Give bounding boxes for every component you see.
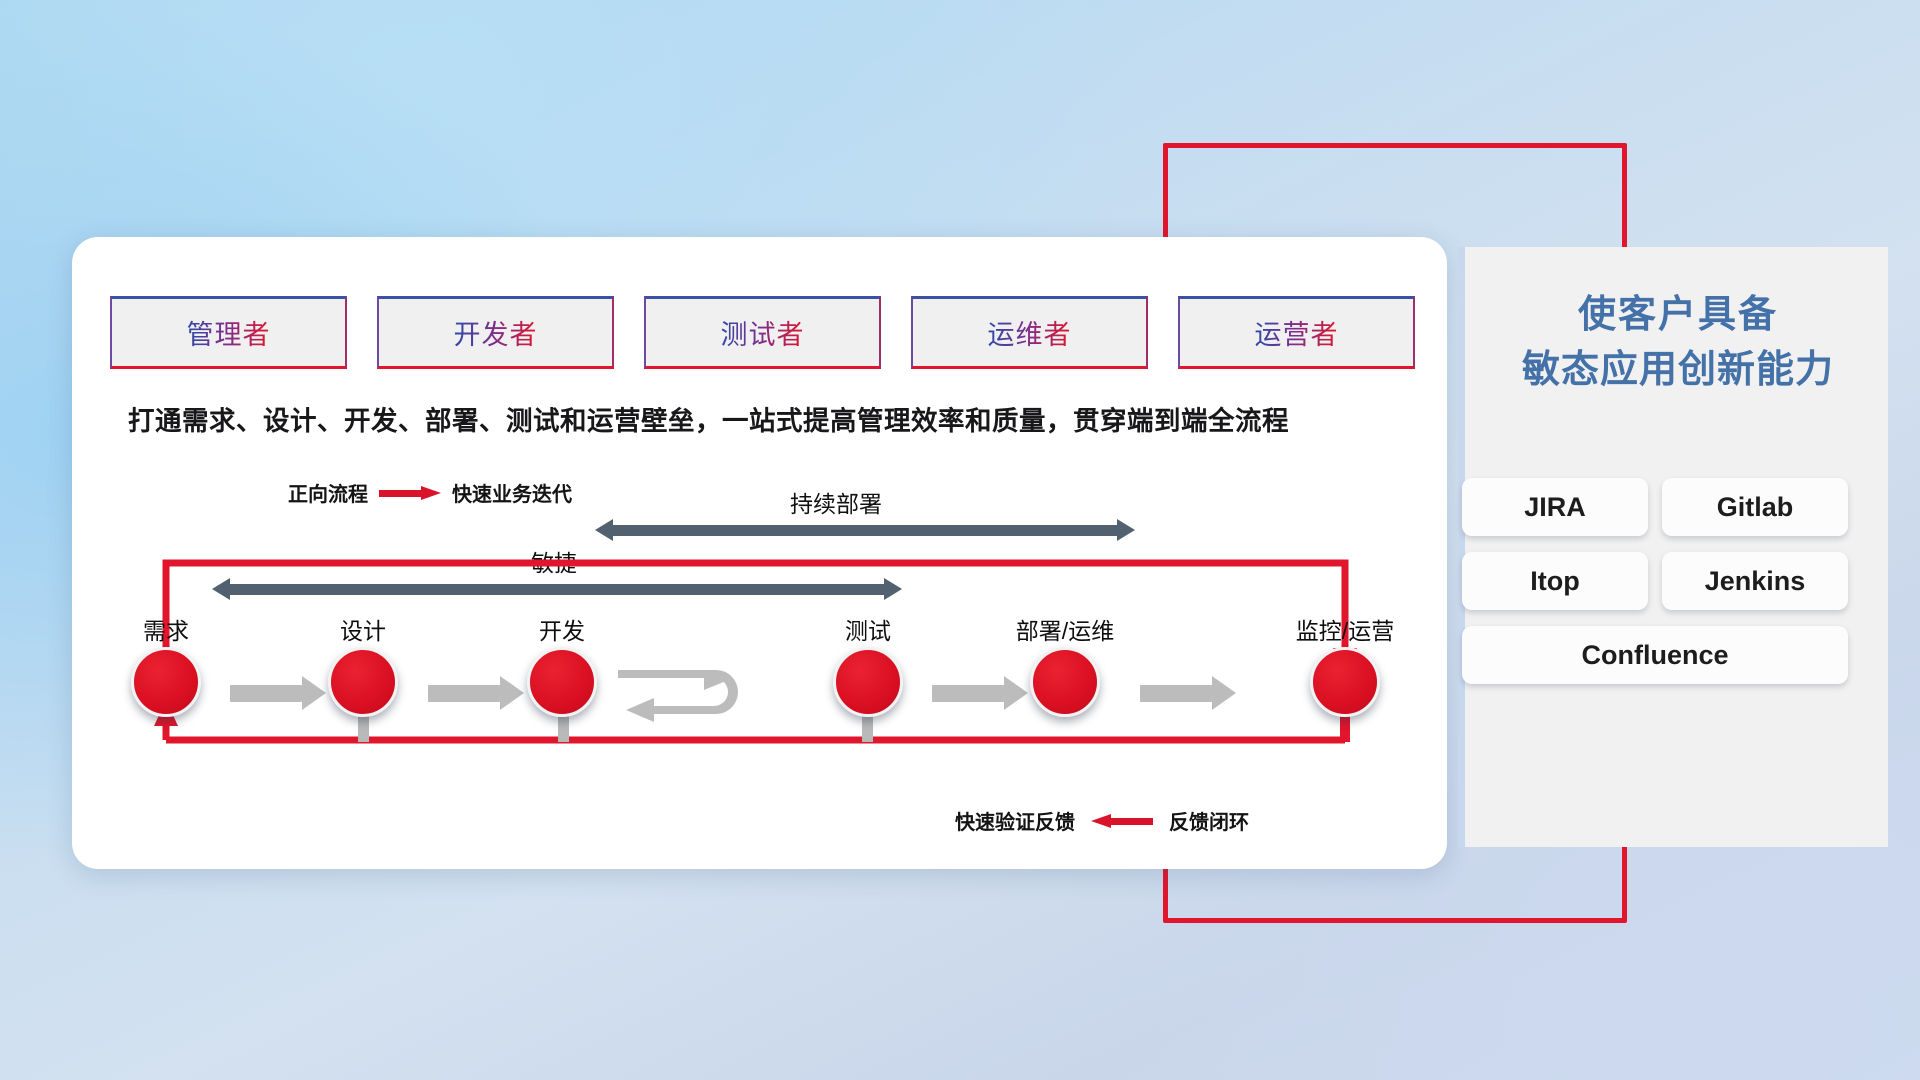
stage-dot-icon bbox=[328, 647, 398, 717]
continuous-deployment-span-arrow-icon bbox=[595, 519, 1135, 541]
tool-chip-gitlab[interactable]: Gitlab bbox=[1662, 478, 1848, 536]
stage-dot-icon bbox=[527, 647, 597, 717]
tool-chip-itop[interactable]: Itop bbox=[1462, 552, 1648, 610]
stage-label: 开发 bbox=[539, 612, 585, 646]
iteration-loop-arrow-icon bbox=[618, 670, 748, 730]
role-box-row: 管理者 开发者 测试者 运维者 运营者 bbox=[110, 296, 1415, 369]
flow-arrow-4-icon bbox=[1140, 676, 1236, 710]
stage-dot-icon bbox=[131, 647, 201, 717]
outcome-panel-title: 使客户具备 敏态应用创新能力 bbox=[1468, 288, 1888, 398]
role-box-developer[interactable]: 开发者 bbox=[377, 296, 614, 369]
arrow-right-red-icon bbox=[379, 486, 441, 499]
agile-label: 敏捷 bbox=[531, 544, 577, 578]
stage-dot-icon bbox=[1310, 647, 1380, 717]
feedback-target-label: 快速验证反馈 bbox=[955, 806, 1075, 835]
stage-label: 监控/运营 bbox=[1296, 612, 1394, 646]
pipeline-row: 需求 设计 开发 测试 bbox=[110, 612, 1420, 722]
flow-arrow-1-icon bbox=[230, 676, 326, 710]
tool-chip-grid: JIRA Gitlab Itop Jenkins Confluence bbox=[1462, 478, 1882, 684]
role-box-ops[interactable]: 运维者 bbox=[911, 296, 1148, 369]
forward-flow-target-label: 快速业务迭代 bbox=[452, 478, 572, 507]
stage-dot-icon bbox=[1030, 647, 1100, 717]
stage-label: 需求 bbox=[143, 612, 189, 646]
diagram-canvas: 管理者 开发者 测试者 运维者 运营者 打通需求、设计、开发、部署、测试和运营壁… bbox=[0, 0, 1920, 1080]
role-box-manager[interactable]: 管理者 bbox=[110, 296, 347, 369]
arrow-left-red-icon bbox=[1091, 814, 1153, 827]
role-label: 运维者 bbox=[988, 313, 1072, 352]
outcome-title-line1: 使客户具备 bbox=[1468, 288, 1888, 343]
forward-flow-source-label: 正向流程 bbox=[288, 478, 368, 507]
tool-chip-jenkins[interactable]: Jenkins bbox=[1662, 552, 1848, 610]
feedback-source-label: 反馈闭环 bbox=[1169, 806, 1249, 835]
tool-chip-jira[interactable]: JIRA bbox=[1462, 478, 1648, 536]
flow-arrow-3-icon bbox=[932, 676, 1028, 710]
stage-label: 测试 bbox=[845, 612, 891, 646]
forward-flow-legend: 正向流程 快速业务迭代 bbox=[288, 478, 572, 507]
role-label: 开发者 bbox=[454, 313, 538, 352]
role-label: 测试者 bbox=[721, 313, 805, 352]
role-box-tester[interactable]: 测试者 bbox=[644, 296, 881, 369]
feedback-loop-legend: 快速验证反馈 反馈闭环 bbox=[955, 806, 1249, 835]
continuous-deployment-label: 持续部署 bbox=[790, 485, 882, 519]
flow-arrow-2-icon bbox=[428, 676, 524, 710]
stage-dot-icon bbox=[833, 647, 903, 717]
stage-label: 设计 bbox=[340, 612, 386, 646]
tool-chip-confluence[interactable]: Confluence bbox=[1462, 626, 1848, 684]
outcome-title-line2: 敏态应用创新能力 bbox=[1468, 343, 1888, 398]
role-box-operations[interactable]: 运营者 bbox=[1178, 296, 1415, 369]
stage-label: 部署/运维 bbox=[1016, 612, 1114, 646]
role-label: 管理者 bbox=[187, 313, 271, 352]
card-headline: 打通需求、设计、开发、部署、测试和运营壁垒，一站式提高管理效率和质量，贯穿端到端… bbox=[128, 399, 1428, 438]
role-label: 运营者 bbox=[1255, 313, 1339, 352]
agile-span-arrow-icon bbox=[212, 578, 902, 600]
